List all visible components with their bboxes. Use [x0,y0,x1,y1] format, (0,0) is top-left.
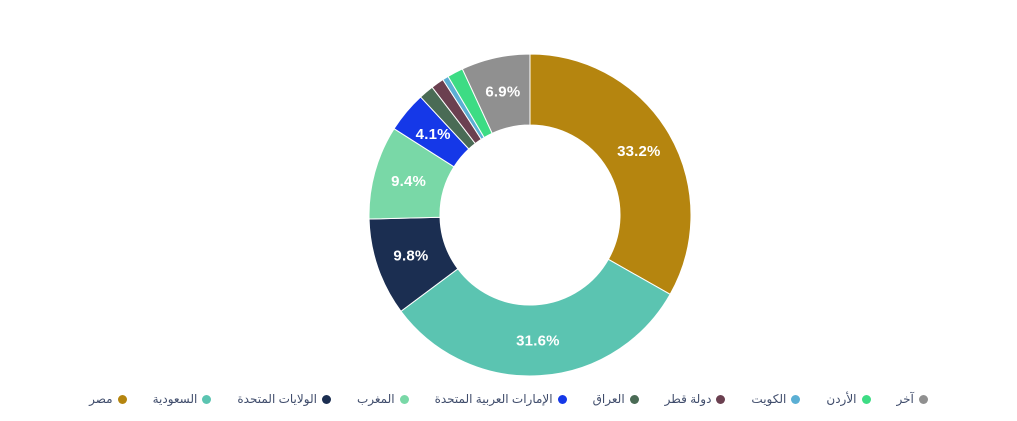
legend-item[interactable]: المغرب [357,392,409,406]
legend-color-swatch-icon [202,395,211,404]
legend-item[interactable]: آخر [897,392,928,406]
legend-color-swatch-icon [322,395,331,404]
legend-color-swatch-icon [118,395,127,404]
legend-item[interactable]: الإمارات العربية المتحدة [435,392,567,406]
legend-item-label: الإمارات العربية المتحدة [435,392,553,406]
legend-item[interactable]: الكويت [751,392,800,406]
donut-container: 33.2%31.6%9.8%9.4%4.1%6.9% [0,0,1017,380]
legend-item[interactable]: مصر [89,392,126,406]
legend-item-label: المغرب [357,392,395,406]
legend-item[interactable]: دولة قطر [665,392,726,406]
legend-item[interactable]: الأردن [826,392,870,406]
legend-color-swatch-icon [791,395,800,404]
legend-color-swatch-icon [400,395,409,404]
legend-item-label: مصر [89,392,112,406]
legend-item-label: العراق [593,392,625,406]
legend-item-label: الولايات المتحدة [237,392,317,406]
legend-item[interactable]: الولايات المتحدة [237,392,331,406]
donut-slice[interactable] [530,54,691,294]
donut-slices [369,54,691,376]
legend-item-label: آخر [897,392,914,406]
legend-item-label: الأردن [826,392,856,406]
chart-plot-area: 33.2%31.6%9.8%9.4%4.1%6.9% [0,0,1017,421]
legend-item[interactable]: العراق [593,392,639,406]
legend-item-label: السعودية [153,392,198,406]
legend-item[interactable]: السعودية [153,392,212,406]
legend-color-swatch-icon [558,395,567,404]
donut-svg: 33.2%31.6%9.8%9.4%4.1%6.9% [0,0,1017,380]
legend-item-label: دولة قطر [665,392,712,406]
legend-color-swatch-icon [630,395,639,404]
legend-color-swatch-icon [716,395,725,404]
legend-item-label: الكويت [751,392,786,406]
chart-legend: مصرالسعوديةالولايات المتحدةالمغربالإمارا… [0,386,1017,412]
legend-color-swatch-icon [862,395,871,404]
donut-chart-widget: 33.2%31.6%9.8%9.4%4.1%6.9% مصرالسعوديةال… [0,0,1017,421]
legend-color-swatch-icon [919,395,928,404]
